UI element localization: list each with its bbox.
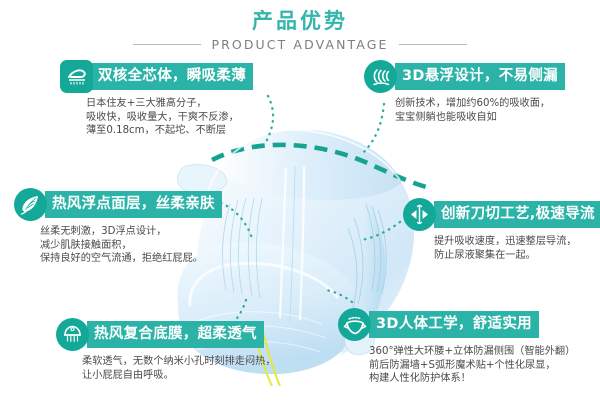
feature-title: 创新刀切工艺,极速导流 — [434, 201, 600, 228]
suspension-waves-icon — [364, 60, 397, 93]
divider-right — [399, 44, 467, 45]
feature-block-film: 热风复合底膜，超柔透气 柔软透气，无数个纳米小孔时刻排走闷热， 让小屁屁自由呼吸… — [56, 318, 306, 382]
breathable-membrane-icon — [56, 318, 89, 351]
feature-title: 3D人体工学，舒适实用 — [369, 311, 539, 338]
feature-block-core: 双核全芯体，瞬吸柔薄 日本住友+三大雅高分子， 吸收快，吸收量大，干爽不反渗， … — [60, 60, 310, 138]
feature-header: 热风复合底膜，超柔透气 — [56, 318, 306, 351]
feature-header: 双核全芯体，瞬吸柔薄 — [60, 60, 310, 93]
feature-block-surface: 热风浮点面层，丝柔亲肤 丝柔无刺激，3D浮点设计， 减少肌肤接触面积， 保持良好… — [14, 188, 264, 266]
feature-header: 3D悬浮设计，不易侧漏 — [364, 60, 600, 93]
feature-body: 360°弹性大环腰+立体防漏侧围（智能外翻） 前后防漏墙+S弧形魔术贴+个性化尿… — [369, 345, 588, 386]
product-advantage-infographic: 产品优势 PRODUCT ADVANTAGE — [0, 0, 600, 401]
feature-body: 丝柔无刺激，3D浮点设计， 减少肌肤接触面积， 保持良好的空气流通，拒绝红屁屁。 — [40, 225, 264, 266]
feature-body: 提升吸收速度，迅速整层导流， 防止尿液聚集在一起。 — [434, 235, 600, 262]
feature-title: 热风浮点面层，丝柔亲肤 — [45, 191, 222, 218]
feature-title: 3D悬浮设计，不易侧漏 — [395, 63, 565, 90]
ergonomic-waist-icon — [338, 308, 371, 341]
page-title: 产品优势 — [0, 8, 600, 34]
feature-title: 双核全芯体，瞬吸柔薄 — [91, 63, 253, 90]
feature-block-ergo: 3D人体工学，舒适实用 360°弹性大环腰+立体防漏侧围（智能外翻） 前后防漏墙… — [338, 308, 588, 386]
knife-cut-flow-icon — [403, 198, 436, 231]
feature-title: 热风复合底膜，超柔透气 — [87, 321, 264, 348]
page-subtitle: PRODUCT ADVANTAGE — [211, 37, 388, 52]
feature-header: 热风浮点面层，丝柔亲肤 — [14, 188, 264, 221]
feature-header: 3D人体工学，舒适实用 — [338, 308, 588, 341]
feature-header: 创新刀切工艺,极速导流 — [403, 198, 600, 231]
page-header: 产品优势 PRODUCT ADVANTAGE — [0, 8, 600, 52]
subtitle-row: PRODUCT ADVANTAGE — [0, 37, 600, 52]
feature-block-float: 3D悬浮设计，不易侧漏 创新技术，增加约60%的吸收面， 宝宝侧躺也能吸收自如 — [364, 60, 600, 124]
absorbent-core-icon — [60, 60, 93, 93]
feature-block-cut: 创新刀切工艺,极速导流 提升吸收速度，迅速整层导流， 防止尿液聚集在一起。 — [403, 198, 600, 262]
feature-body: 创新技术，增加约60%的吸收面， 宝宝侧躺也能吸收自如 — [395, 97, 600, 124]
feature-body: 柔软透气，无数个纳米小孔时刻排走闷热， 让小屁屁自由呼吸。 — [82, 355, 306, 382]
feather-softness-icon — [14, 188, 47, 221]
feature-body: 日本住友+三大雅高分子， 吸收快，吸收量大，干爽不反渗， 薄至0.18cm，不起… — [86, 97, 310, 138]
divider-left — [133, 44, 201, 45]
